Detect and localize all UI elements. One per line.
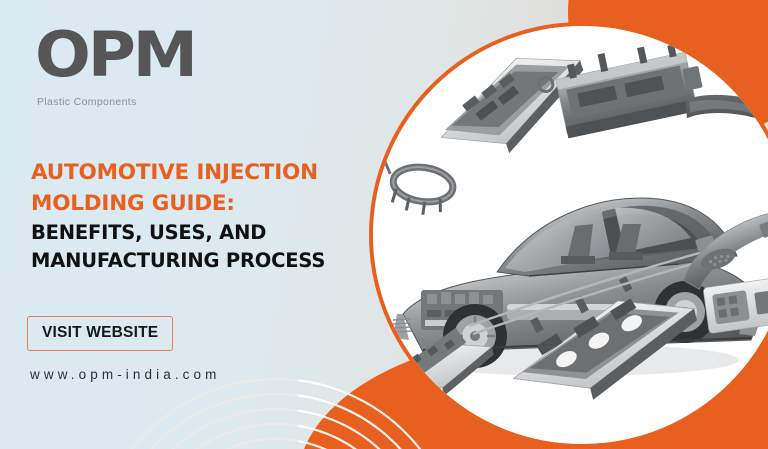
- page-title: AUTOMOTIVE INJECTION MOLDING GUIDE: BENE…: [31, 158, 371, 274]
- automotive-cutaway-illustration: [373, 26, 768, 443]
- logo-wordmark: OPM: [35, 26, 195, 85]
- visit-website-button[interactable]: VISIT WEBSITE: [27, 316, 173, 351]
- website-url[interactable]: www.opm-india.com: [30, 367, 221, 382]
- hero-image-circle: [369, 22, 768, 448]
- promo-banner: OPM Plastic Components AUTOMOTIVE INJECT…: [0, 0, 768, 449]
- headline-line-3: BENEFITS, USES, AND: [31, 219, 371, 247]
- brand-logo: OPM Plastic Components: [35, 26, 186, 108]
- headline-line-4: MANUFACTURING PROCESS: [31, 247, 371, 275]
- headline-line-1: AUTOMOTIVE INJECTION: [31, 158, 371, 189]
- banner-content: OPM Plastic Components AUTOMOTIVE INJECT…: [0, 0, 370, 449]
- headline-line-2: MOLDING GUIDE:: [31, 189, 371, 220]
- logo-tagline: Plastic Components: [37, 96, 186, 108]
